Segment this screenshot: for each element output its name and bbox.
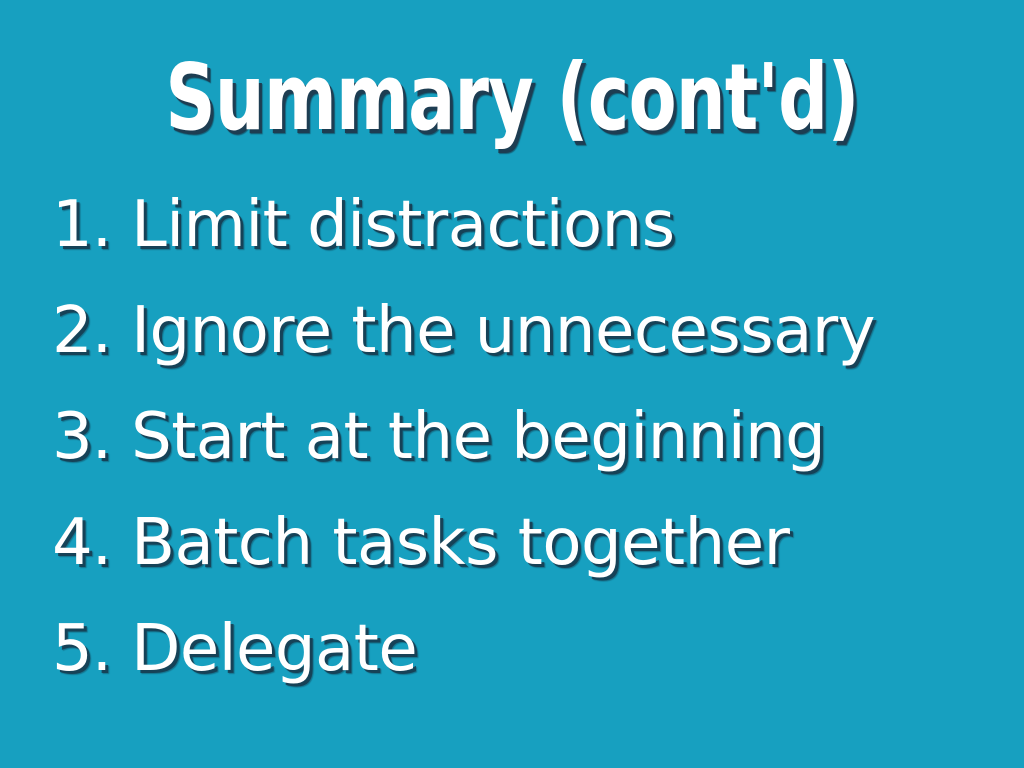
list-item-label: Start at the beginning (131, 384, 825, 490)
list-item: 4. Batch tasks together (52, 490, 982, 596)
list-item: 1. Limit distractions (52, 172, 982, 278)
list-item-number: 5. (52, 596, 111, 702)
list-item: 5. Delegate (52, 596, 982, 702)
list-item-label: Limit distractions (131, 172, 675, 278)
presentation-slide: Summary (cont'd) 1. Limit distractions 2… (0, 0, 1024, 768)
slide-title: Summary (cont'd) (123, 52, 901, 144)
list-item-number: 1. (52, 172, 111, 278)
list-item-number: 2. (52, 278, 111, 384)
list-item-label: Batch tasks together (131, 490, 789, 596)
list-item-number: 4. (52, 490, 111, 596)
list-item-label: Delegate (131, 596, 417, 702)
list-item-number: 3. (52, 384, 111, 490)
list-item: 2. Ignore the unnecessary (52, 278, 982, 384)
list-item-label: Ignore the unnecessary (131, 278, 875, 384)
list-item: 3. Start at the beginning (52, 384, 982, 490)
summary-list: 1. Limit distractions 2. Ignore the unne… (52, 172, 982, 702)
